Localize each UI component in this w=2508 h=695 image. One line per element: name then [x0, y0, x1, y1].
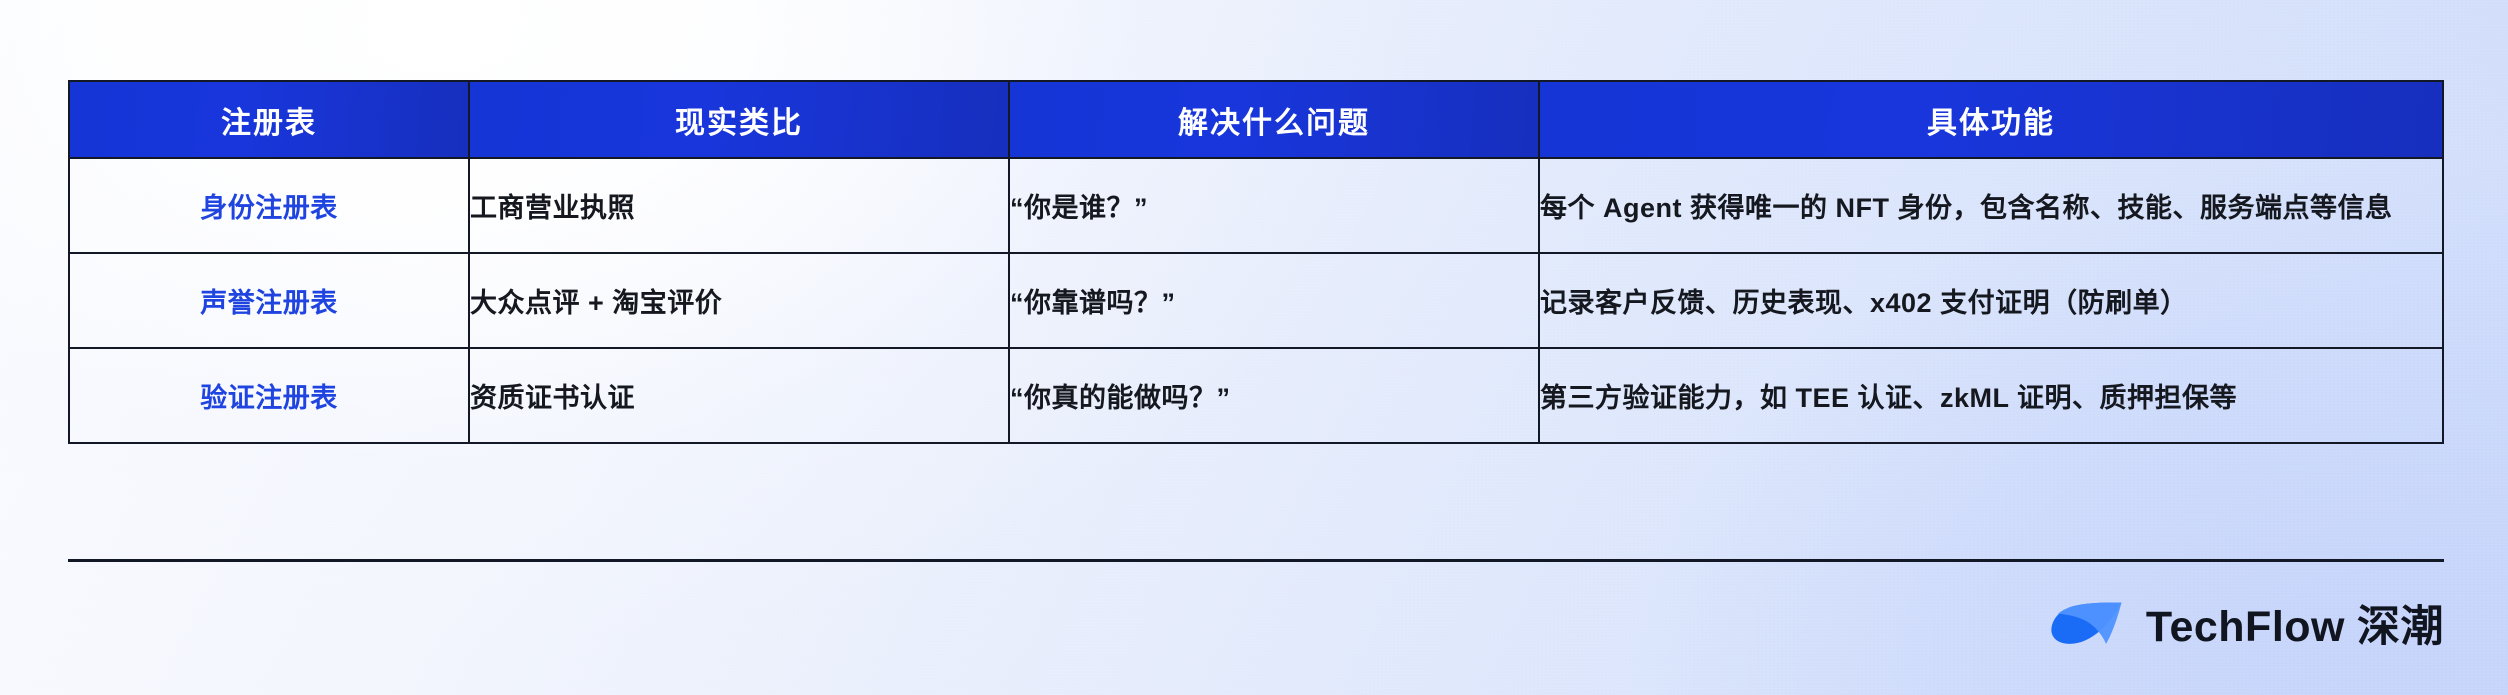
column-header-problem: 解决什么问题: [1009, 81, 1539, 158]
table-row: 验证注册表 资质证书认证 “你真的能做吗？” 第三方验证能力，如 TEE 认证、…: [69, 348, 2443, 443]
table-row: 声誉注册表 大众点评 + 淘宝评价 “你靠谱吗？” 记录客户反馈、历史表现、x4…: [69, 253, 2443, 348]
cell-registry-name: 验证注册表: [69, 348, 469, 443]
table-body: 身份注册表 工商营业执照 “你是谁？” 每个 Agent 获得唯一的 NFT 身…: [69, 158, 2443, 443]
footer-divider: [68, 559, 2444, 562]
table-header-row: 注册表 现实类比 解决什么问题 具体功能: [69, 81, 2443, 158]
cell-functions: 第三方验证能力，如 TEE 认证、zkML 证明、质押担保等: [1539, 348, 2443, 443]
registry-table: 注册表 现实类比 解决什么问题 具体功能 身份注册表 工商营业执照 “你是谁？”…: [68, 80, 2444, 444]
brand-name: TechFlow深潮: [2146, 592, 2444, 654]
cell-problem: “你靠谱吗？”: [1009, 253, 1539, 348]
techflow-leaf-icon: [2050, 600, 2124, 646]
brand-footer: TechFlow深潮: [2050, 592, 2444, 654]
brand-name-cn: 深潮: [2357, 603, 2444, 651]
column-header-functions: 具体功能: [1539, 81, 2443, 158]
brand-name-en: TechFlow: [2146, 603, 2345, 651]
table-header: 注册表 现实类比 解决什么问题 具体功能: [69, 81, 2443, 158]
registry-table-container: 注册表 现实类比 解决什么问题 具体功能 身份注册表 工商营业执照 “你是谁？”…: [68, 80, 2444, 444]
cell-functions: 每个 Agent 获得唯一的 NFT 身份，包含名称、技能、服务端点等信息: [1539, 158, 2443, 253]
cell-problem: “你真的能做吗？”: [1009, 348, 1539, 443]
cell-registry-name: 声誉注册表: [69, 253, 469, 348]
cell-registry-name: 身份注册表: [69, 158, 469, 253]
cell-analogy: 资质证书认证: [469, 348, 1009, 443]
cell-functions: 记录客户反馈、历史表现、x402 支付证明（防刷单）: [1539, 253, 2443, 348]
column-header-registry: 注册表: [69, 81, 469, 158]
cell-analogy: 工商营业执照: [469, 158, 1009, 253]
cell-problem: “你是谁？”: [1009, 158, 1539, 253]
column-header-analogy: 现实类比: [469, 81, 1009, 158]
table-row: 身份注册表 工商营业执照 “你是谁？” 每个 Agent 获得唯一的 NFT 身…: [69, 158, 2443, 253]
cell-analogy: 大众点评 + 淘宝评价: [469, 253, 1009, 348]
slide-canvas: 注册表 现实类比 解决什么问题 具体功能 身份注册表 工商营业执照 “你是谁？”…: [0, 0, 2508, 695]
